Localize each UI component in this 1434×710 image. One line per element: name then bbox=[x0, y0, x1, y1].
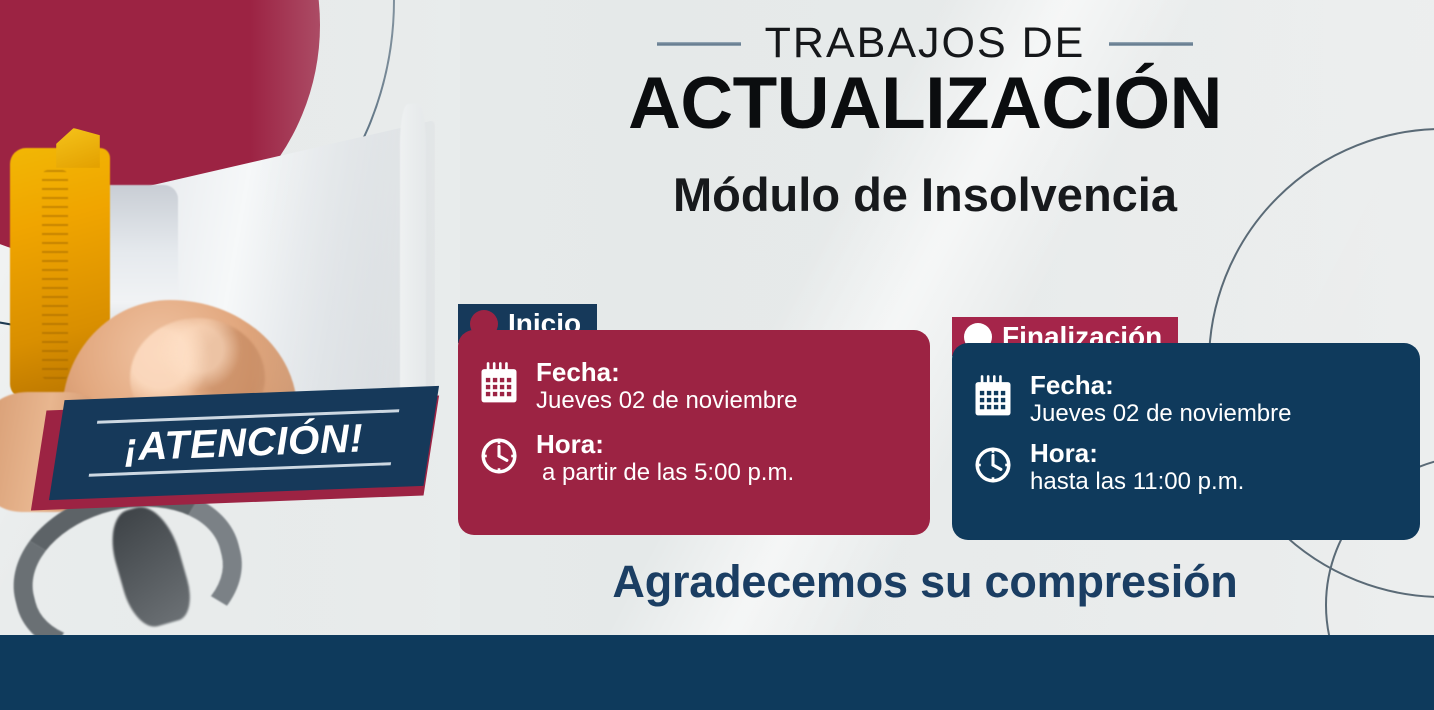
card-inicio-row-fecha: Fecha: Jueves 02 de noviembre bbox=[478, 358, 904, 416]
kicker-text: TRABAJOS DE bbox=[765, 22, 1086, 65]
card-inicio-hora-value: a partir de las 5:00 p.m. bbox=[536, 459, 794, 488]
card-inicio-hora-text: Hora: a partir de las 5:00 p.m. bbox=[536, 430, 794, 488]
card-inicio-fecha-text: Fecha: Jueves 02 de noviembre bbox=[536, 358, 798, 416]
card-inicio-hora-label: Hora: bbox=[536, 430, 794, 459]
kicker-row: TRABAJOS DE bbox=[460, 22, 1390, 65]
card-finalizacion-fecha-text: Fecha: Jueves 02 de noviembre bbox=[1030, 371, 1292, 429]
card-finalizacion-fecha-label: Fecha: bbox=[1030, 371, 1292, 400]
calendar-icon bbox=[972, 375, 1014, 419]
headline-block: TRABAJOS DE ACTUALIZACIÓN Módulo de Inso… bbox=[460, 22, 1390, 222]
megaphone-ridges-icon bbox=[42, 170, 68, 380]
attention-badge-navy-layer: ¡ATENCIÓN! bbox=[49, 386, 439, 500]
photo-fade-overlay bbox=[250, 0, 460, 635]
card-finalizacion-hora-value: hasta las 11:00 p.m. bbox=[1030, 468, 1244, 497]
card-finalizacion-hora-label: Hora: bbox=[1030, 439, 1244, 468]
card-finalizacion-row-hora: Hora: hasta las 11:00 p.m. bbox=[972, 439, 1394, 497]
card-finalizacion-row-fecha: Fecha: Jueves 02 de noviembre bbox=[972, 371, 1394, 429]
clock-icon bbox=[972, 443, 1014, 487]
footer-bar bbox=[0, 635, 1434, 710]
calendar-icon bbox=[478, 362, 520, 406]
kicker-dash-right-icon bbox=[1109, 42, 1193, 46]
card-finalizacion-fecha-value: Jueves 02 de noviembre bbox=[1030, 400, 1292, 429]
card-inicio-fecha-value: Jueves 02 de noviembre bbox=[536, 387, 798, 416]
attention-badge-label: ¡ATENCIÓN! bbox=[124, 419, 365, 468]
card-inicio-fecha-label: Fecha: bbox=[536, 358, 798, 387]
closing-message: Agradecemos su compresión bbox=[460, 556, 1390, 608]
page-subtitle: Módulo de Insolvencia bbox=[460, 167, 1390, 222]
card-inicio-row-hora: Hora: a partir de las 5:00 p.m. bbox=[478, 430, 904, 488]
page-title: ACTUALIZACIÓN bbox=[460, 67, 1390, 141]
clock-icon bbox=[478, 434, 520, 478]
card-finalizacion: Fecha: Jueves 02 de noviembre Hora: bbox=[952, 343, 1420, 540]
card-finalizacion-hora-text: Hora: hasta las 11:00 p.m. bbox=[1030, 439, 1244, 497]
attention-badge: ¡ATENCIÓN! bbox=[30, 385, 450, 530]
megaphone-photo bbox=[0, 0, 460, 635]
kicker-dash-left-icon bbox=[657, 42, 741, 46]
card-inicio: Fecha: Jueves 02 de noviembre Hora: bbox=[458, 330, 930, 535]
megaphone-trigger-icon bbox=[56, 128, 100, 168]
update-notice-banner: ¡ATENCIÓN! TRABAJOS DE ACTUALIZACIÓN Mód… bbox=[0, 0, 1434, 710]
